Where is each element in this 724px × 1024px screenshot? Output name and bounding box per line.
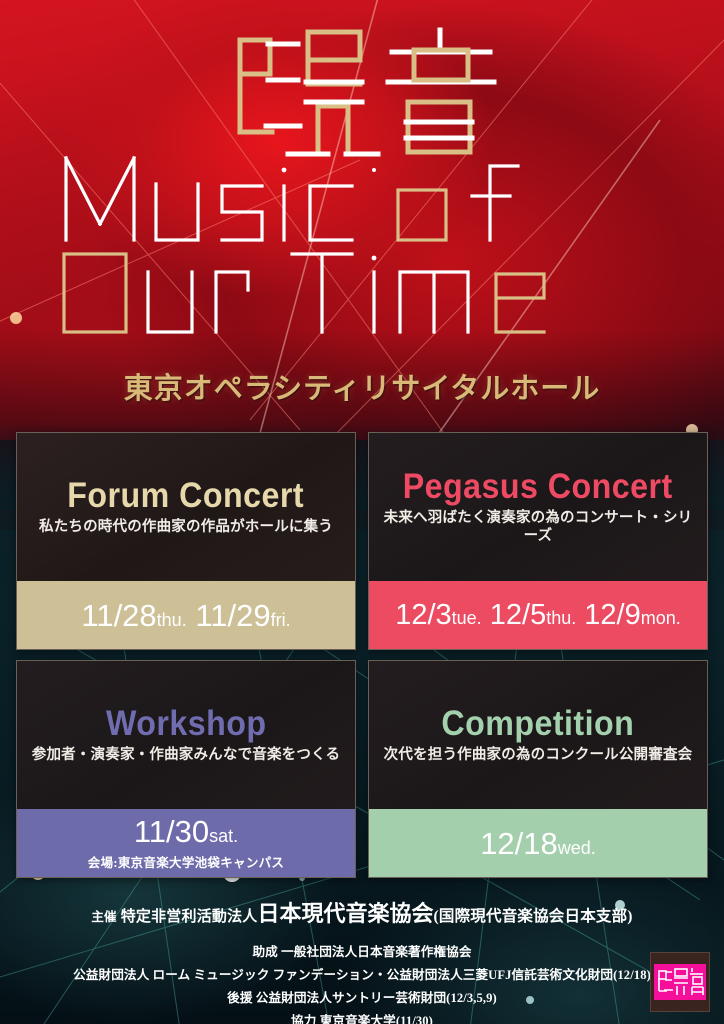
date-value: 11/28 xyxy=(81,598,156,633)
credit-text: 東京音楽大学(11/30) xyxy=(320,1014,433,1024)
credit-line: 公益財団法人 ローム ミュージック ファンデーション・公益財団法人三菱UFJ信託… xyxy=(0,964,724,987)
event-cards-grid: Forum Concert 私たちの時代の作曲家の作品がホールに集う 11/28… xyxy=(16,432,708,888)
event-date-band: 12/18wed. xyxy=(369,809,707,877)
credit-text: 公益財団法人 ローム ミュージック ファンデーション・公益財団法人三菱UFJ信託… xyxy=(73,968,651,982)
card-header: Pegasus Concert 未来へ羽ばたく演奏家の為のコンサート・シリーズ xyxy=(369,433,707,581)
credit-text: 公益財団法人サントリー芸術財団(12/3,5,9) xyxy=(256,991,497,1005)
date-value: 12/5 xyxy=(490,599,546,631)
date-value: 12/18 xyxy=(480,826,558,861)
footer-logo-glyphs-icon xyxy=(654,964,706,1000)
card-header: Forum Concert 私たちの時代の作曲家の作品がホールに集う xyxy=(17,433,355,581)
event-card-workshop[interactable]: Workshop 参加者・演奏家・作曲家みんなで音楽をつくる 11/30sat.… xyxy=(16,660,356,878)
organizer-label: 主催 xyxy=(91,910,116,924)
event-dates: 11/30sat. xyxy=(134,816,238,847)
event-card-pegasus-concert[interactable]: Pegasus Concert 未来へ羽ばたく演奏家の為のコンサート・シリーズ … xyxy=(368,432,708,650)
event-title: Pegasus Concert xyxy=(403,469,673,504)
organizer-paren: (国際現代音楽協会日本支部) xyxy=(434,908,633,925)
date-dow: sat. xyxy=(209,826,238,846)
venue-hall-name: 東京オペラシティリサイタルホール xyxy=(0,365,724,407)
credit-line: 後援 公益財団法人サントリー芸術財団(12/3,5,9) xyxy=(0,987,724,1010)
poster-root: 2025 xyxy=(0,0,724,1024)
event-dates: 11/28thu. 11/29fri. xyxy=(81,600,290,631)
event-date-band: 12/3tue. 12/5thu. 12/9mon. xyxy=(369,581,707,649)
date-value: 11/29 xyxy=(195,598,270,633)
organizer-name: 日本現代音楽協会 xyxy=(258,901,434,926)
event-card-forum-concert[interactable]: Forum Concert 私たちの時代の作曲家の作品がホールに集う 11/28… xyxy=(16,432,356,650)
credit-text: 一般社団法人日本音楽著作権協会 xyxy=(281,945,471,959)
date-value: 12/9 xyxy=(584,599,640,631)
event-row-2: Workshop 参加者・演奏家・作曲家みんなで音楽をつくる 11/30sat.… xyxy=(16,660,708,878)
credit-line: 助成 一般社団法人日本音楽著作権協会 xyxy=(0,941,724,964)
credit-line: 協力 東京音楽大学(11/30) xyxy=(0,1010,724,1024)
organizer-line: 主催 特定非営利活動法人日本現代音楽協会(国際現代音楽協会日本支部) xyxy=(0,896,724,928)
date-dow: thu. xyxy=(157,610,187,630)
event-title: Competition xyxy=(442,706,635,741)
event-date-band: 11/30sat. 会場:東京音楽大学池袋キャンパス xyxy=(17,809,355,877)
card-header: Workshop 参加者・演奏家・作曲家みんなで音楽をつくる xyxy=(17,661,355,809)
event-card-competition[interactable]: Competition 次代を担う作曲家の為のコンクール公開審査会 12/18w… xyxy=(368,660,708,878)
date-dow: wed. xyxy=(558,838,596,858)
card-header: Competition 次代を担う作曲家の為のコンクール公開審査会 xyxy=(369,661,707,809)
event-venue-note: 会場:東京音楽大学池袋キャンパス xyxy=(88,852,284,871)
credit-label: 助成 xyxy=(252,945,277,959)
event-subtitle: 参加者・演奏家・作曲家みんなで音楽をつくる xyxy=(24,747,348,764)
event-title: Forum Concert xyxy=(68,478,305,513)
organizer-prefix: 特定非営利活動法人 xyxy=(121,909,258,925)
date-value: 12/3 xyxy=(395,599,451,631)
footer-logo-kanji-icon xyxy=(654,964,706,1000)
credit-label: 後援 xyxy=(227,991,252,1005)
main-title-music-of-our-time xyxy=(52,150,692,340)
date-dow: tue. xyxy=(452,608,482,628)
event-dates: 12/3tue. 12/5thu. 12/9mon. xyxy=(395,601,681,630)
event-date-band: 11/28thu. 11/29fri. xyxy=(17,581,355,649)
event-dates: 12/18wed. xyxy=(480,828,596,859)
credit-label: 協力 xyxy=(291,1014,316,1024)
event-title: Workshop xyxy=(106,706,267,741)
date-dow: mon. xyxy=(641,608,681,628)
footer-credits: 主催 特定非営利活動法人日本現代音楽協会(国際現代音楽協会日本支部) 助成 一般… xyxy=(0,896,724,1024)
event-row-1: Forum Concert 私たちの時代の作曲家の作品がホールに集う 11/28… xyxy=(16,432,708,650)
date-value: 11/30 xyxy=(134,814,209,849)
event-subtitle: 次代を担う作曲家の為のコンクール公開審査会 xyxy=(376,747,701,764)
footer-genon-logo[interactable] xyxy=(650,952,710,1012)
date-dow: fri. xyxy=(271,610,291,630)
event-subtitle: 私たちの時代の作曲家の作品がホールに集う xyxy=(31,519,341,536)
event-subtitle: 未来へ羽ばたく演奏家の為のコンサート・シリーズ xyxy=(369,510,707,545)
date-dow: thu. xyxy=(546,608,576,628)
